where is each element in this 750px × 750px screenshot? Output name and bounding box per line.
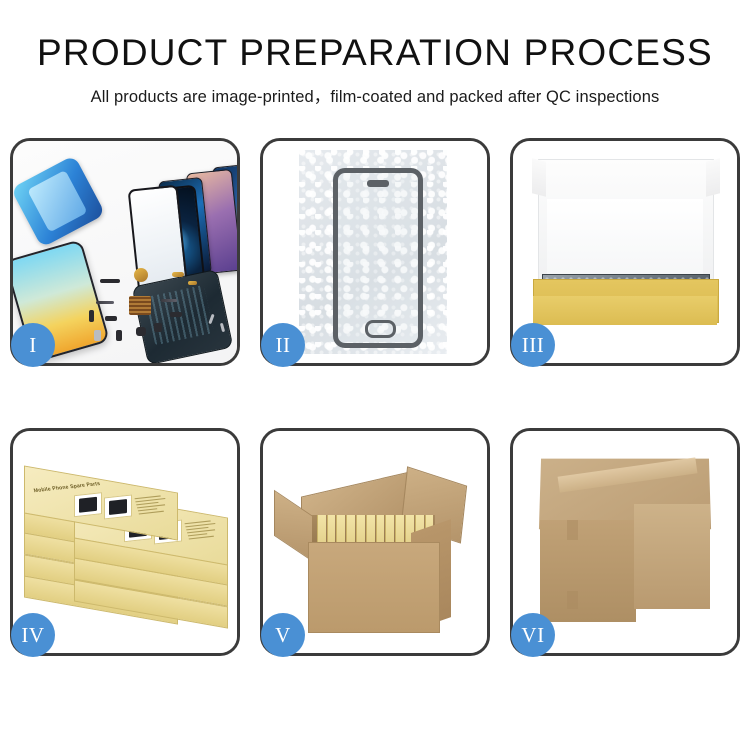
spare-part-graphic — [105, 316, 117, 321]
open-box-front-graphic — [533, 296, 717, 325]
bubble-wrap-graphic — [299, 150, 447, 354]
wrapped-screen-graphic — [333, 168, 423, 348]
page-subtitle: All products are image-printed，film-coat… — [0, 83, 750, 107]
step-badge-4: IV — [11, 613, 55, 657]
step-badge-3: III — [511, 323, 555, 367]
spare-part-graphic — [136, 327, 146, 336]
phone-display-fan — [103, 157, 237, 272]
spare-part-graphic — [170, 312, 182, 317]
step-badge-2: II — [261, 323, 305, 367]
box-spec-lines-graphic — [135, 495, 172, 517]
box-spec-lines-graphic — [185, 520, 222, 542]
box-window-graphic — [73, 492, 101, 517]
step-badge-5: V — [261, 613, 305, 657]
carton-seam-graphic — [567, 520, 578, 540]
carton-seam-graphic — [567, 591, 578, 609]
process-step-6: VI — [510, 428, 740, 656]
spare-part-graphic — [134, 268, 148, 282]
page-title: PRODUCT PREPARATION PROCESS — [0, 30, 750, 76]
step-badge-1: I — [11, 323, 55, 367]
process-step-2: II — [260, 138, 490, 366]
spare-part-graphic — [129, 296, 151, 315]
foam-insert-graphic — [547, 199, 704, 283]
spare-part-graphic — [96, 301, 114, 304]
carton-side-graphic — [634, 504, 710, 608]
spare-part-graphic — [172, 272, 184, 277]
process-step-3: III — [510, 138, 740, 366]
adhesive-frame-graphic — [13, 155, 105, 247]
process-step-5: V — [260, 428, 490, 656]
process-step-1: I — [10, 138, 240, 366]
carton-front-graphic — [540, 520, 636, 622]
process-step-grid: I II III — [10, 138, 740, 656]
spare-part-graphic — [100, 279, 120, 283]
spare-part-graphic — [154, 323, 162, 332]
box-stack-graphic: Mobile Phone Spare Parts Mobile Phone Sp… — [20, 458, 231, 636]
carton-body-graphic — [308, 542, 440, 633]
spare-part-graphic — [94, 330, 101, 341]
step-badge-6: VI — [511, 613, 555, 657]
spare-part-graphic — [89, 310, 94, 322]
spare-part-graphic — [116, 330, 122, 341]
spare-part-graphic — [161, 299, 177, 302]
process-step-4: Mobile Phone Spare Parts Mobile Phone Sp… — [10, 428, 240, 656]
spare-part-graphic — [188, 281, 197, 285]
box-window-graphic — [104, 494, 132, 519]
phone-back-housing-graphic — [131, 268, 233, 363]
page-header: PRODUCT PREPARATION PROCESS All products… — [0, 0, 750, 107]
